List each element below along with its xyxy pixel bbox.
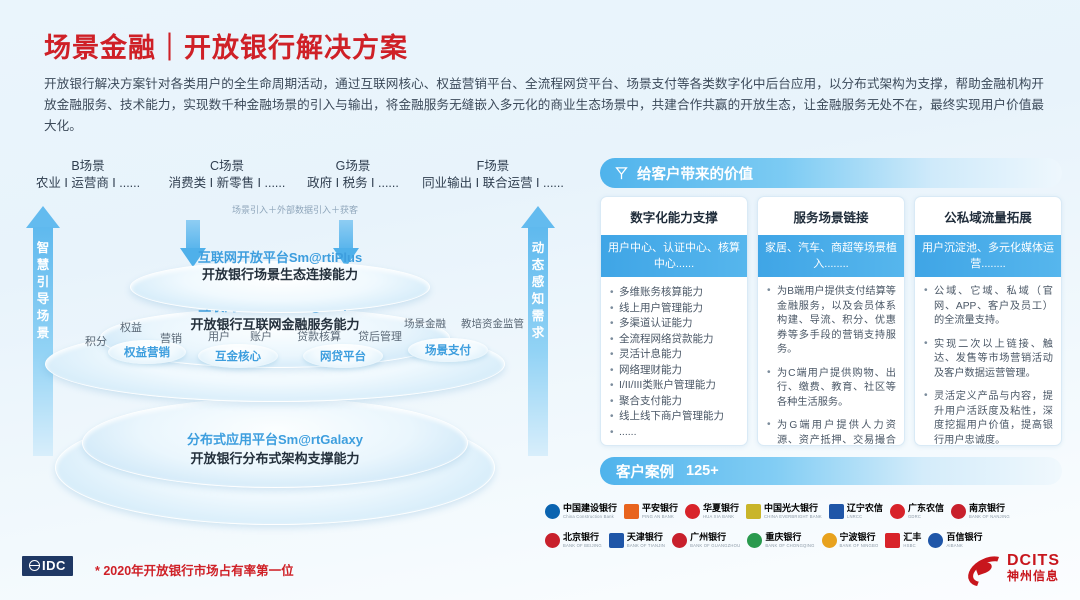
- bank-mark-icon: [822, 533, 837, 548]
- page-title: 场景金融｜开放银行解决方案: [44, 26, 408, 65]
- logo-en-name: CHINA EVERBRIGHT BANK: [764, 515, 822, 519]
- client-logo: 中国光大银行CHINA EVERBRIGHT BANK: [746, 504, 822, 519]
- list-item: 全流程网络贷款能力: [610, 332, 739, 348]
- dcits-swirl-icon: [967, 554, 1001, 580]
- bank-mark-icon: [609, 533, 624, 548]
- logo-en-name: PING AN BANK: [642, 515, 678, 519]
- arrow-shaft: [339, 220, 353, 250]
- card-item-list: 公域、它域、私域（官网、APP、客户及员工）的全流量支持。 实现二次以上链接、触…: [924, 285, 1053, 446]
- logo-cn-name: 宁波银行: [840, 533, 879, 542]
- value-panel-header: 给客户带来的价值: [600, 158, 1062, 188]
- flow-note: 场景引入＋外部数据引入＋获客: [165, 203, 425, 216]
- client-logo: 华夏银行HUA XIA BANK: [685, 504, 739, 519]
- right-demand-arrow: 动态感知需求: [521, 206, 555, 456]
- scene-column-g: G场景 政府 I 税务 I ......: [288, 158, 418, 192]
- scene-column-f: F场景 同业输出 I 联合运营 I ......: [408, 158, 578, 192]
- scene-detail: 政府 I 税务 I ......: [288, 174, 418, 192]
- idc-logo: IDC: [22, 556, 73, 576]
- logo-cn-name: 中国建设银行: [563, 504, 617, 513]
- layer-capability: 开放银行互联网金融服务能力: [45, 316, 505, 334]
- logo-cn-name: 平安银行: [642, 504, 678, 513]
- card-subtitle: 用户沉淀池、多元化媒体运营........: [915, 235, 1061, 277]
- client-logo: 广东农信GDRC: [890, 504, 944, 519]
- client-logo: 重庆银行BANK OF CHONGQING: [747, 533, 814, 548]
- globe-icon: [29, 560, 40, 571]
- module-pill-internet-core[interactable]: 互金核心: [198, 344, 278, 368]
- logo-row-1: 中国建设银行China Construction Bank 平安银行PING A…: [545, 497, 1065, 526]
- client-logo: 百信银行AIBANK: [928, 533, 982, 548]
- logo-cn-name: 中国光大银行: [764, 504, 822, 513]
- scene-label: G场景: [288, 158, 418, 174]
- list-item: 为G端用户提供人力资源、资产抵押、交易撮合等政务税务基础服务。: [767, 419, 896, 446]
- bank-mark-icon: [746, 504, 761, 519]
- value-cards: 数字化能力支撑 用户中心、认证中心、核算中心...... 多维账务核算能力 线上…: [600, 196, 1062, 446]
- client-logo: 北京银行BANK OF BEIJING: [545, 533, 602, 548]
- logo-en-name: BANK OF GUANGZHOU: [690, 544, 740, 548]
- logo-cn-name: 南京银行: [969, 504, 1010, 513]
- value-card-traffic-expansion[interactable]: 公私域流量拓展 用户沉淀池、多元化媒体运营........ 公域、它域、私域（官…: [914, 196, 1062, 446]
- client-logo: 广州银行BANK OF GUANGZHOU: [672, 533, 740, 548]
- brand-en-name: DCITS: [1007, 552, 1060, 570]
- case-panel-header: 客户案例 125+: [600, 457, 1062, 485]
- client-logo: 天津银行BANK OF TIANJIN: [609, 533, 665, 548]
- logo-cn-name: 华夏银行: [703, 504, 739, 513]
- bank-mark-icon: [829, 504, 844, 519]
- logo-cn-name: 广州银行: [690, 533, 740, 542]
- client-logo: 平安银行PING AN BANK: [624, 504, 678, 519]
- list-item: I/II/III类账户管理能力: [610, 378, 739, 394]
- list-item: 为B端用户提供支付结算等金融服务，以及会员体系构建、导流、积分、优惠券等多手段的…: [767, 285, 896, 358]
- list-item: 多维账务核算能力: [610, 285, 739, 301]
- card-title: 服务场景链接: [758, 197, 904, 235]
- logo-cn-name: 汇丰: [903, 533, 921, 542]
- client-logo-grid: 中国建设银行China Construction Bank 平安银行PING A…: [545, 497, 1065, 555]
- logo-en-name: AIBANK: [946, 544, 982, 548]
- module-pill-scene-payment[interactable]: 场景支付: [408, 338, 488, 362]
- card-body: 多维账务核算能力 线上用户管理能力 多渠道认证能力 全流程网络贷款能力 灵活计息…: [601, 277, 747, 446]
- case-panel-title: 客户案例: [616, 461, 674, 482]
- layer-capability: 开放银行分布式架构支撑能力: [55, 450, 495, 468]
- feature-word-points: 积分: [85, 333, 107, 349]
- client-logo: 汇丰HSBC: [885, 533, 921, 548]
- list-item: 多渠道认证能力: [610, 316, 739, 332]
- list-item: ......: [610, 425, 739, 441]
- bank-mark-icon: [545, 504, 560, 519]
- scene-detail: 同业输出 I 联合运营 I ......: [408, 174, 578, 192]
- layer-product-name: 互联网开放平台Sm@rtiPlus: [130, 249, 430, 266]
- logo-cn-name: 重庆银行: [765, 533, 814, 542]
- card-title: 公私域流量拓展: [915, 197, 1061, 235]
- module-label: 网贷平台: [320, 348, 366, 364]
- list-item: 线上用户管理能力: [610, 301, 739, 317]
- bank-mark-icon: [685, 504, 700, 519]
- idc-footnote: * 2020年开放银行市场占有率第一位: [95, 560, 294, 579]
- card-title: 数字化能力支撑: [601, 197, 747, 235]
- scene-detail: 消费类 I 新零售 I ......: [152, 174, 302, 192]
- logo-en-name: China Construction Bank: [563, 515, 617, 519]
- dcits-brand-logo: DCITS 神州信息: [967, 552, 1060, 583]
- logo-en-name: BANK OF CHONGQING: [765, 544, 814, 548]
- value-card-service-scene-link[interactable]: 服务场景链接 家居、汽车、商超等场景植入........ 为B端用户提供支付结算…: [757, 196, 905, 446]
- list-item: 线上线下商户管理能力: [610, 409, 739, 425]
- case-count-badge: 125+: [686, 463, 719, 479]
- module-label: 权益营销: [124, 344, 170, 360]
- intro-paragraph: 开放银行解决方案针对各类用户的全生命周期活动，通过互联网核心、权益营销平台、全流…: [44, 74, 1044, 137]
- logo-cn-name: 辽宁农信: [847, 504, 883, 513]
- logo-en-name: HUA XIA BANK: [703, 515, 739, 519]
- bank-mark-icon: [885, 533, 900, 548]
- layer-product-name: 分布式应用平台Sm@rtGalaxy: [55, 431, 495, 448]
- scene-label: F场景: [408, 158, 578, 174]
- logo-en-name: BANK OF NANJING: [969, 515, 1010, 519]
- logo-cn-name: 天津银行: [627, 533, 665, 542]
- scene-label: C场景: [152, 158, 302, 174]
- card-subtitle: 家居、汽车、商超等场景植入........: [758, 235, 904, 277]
- list-item: 聚合支付能力: [610, 394, 739, 410]
- right-arrow-label: 动态感知需求: [529, 240, 547, 342]
- bank-mark-icon: [951, 504, 966, 519]
- card-subtitle: 用户中心、认证中心、核算中心......: [601, 235, 747, 277]
- list-item: 实现二次以上链接、触达、发售等市场营销活动及客户数据运营管理。: [924, 338, 1053, 382]
- idc-label: IDC: [42, 558, 66, 573]
- client-logo: 南京银行BANK OF NANJING: [951, 504, 1010, 519]
- layer-capability: 开放银行场景生态连接能力: [130, 266, 430, 284]
- bank-mark-icon: [928, 533, 943, 548]
- logo-en-name: BANK OF TIANJIN: [627, 544, 665, 548]
- scene-detail: 农业 I 运营商 I ......: [18, 174, 158, 192]
- scene-column-b: B场景 农业 I 运营商 I ......: [18, 158, 158, 192]
- logo-cn-name: 北京银行: [563, 533, 602, 542]
- bank-mark-icon: [890, 504, 905, 519]
- bank-mark-icon: [624, 504, 639, 519]
- list-item: 灵活计息能力: [610, 347, 739, 363]
- list-item: 为C端用户提供购物、出行、缴费、教育、社区等各种生活服务。: [767, 367, 896, 411]
- card-body: 为B端用户提供支付结算等金融服务，以及会员体系构建、导流、积分、优惠券等多手段的…: [758, 277, 904, 446]
- card-item-list: 多维账务核算能力 线上用户管理能力 多渠道认证能力 全流程网络贷款能力 灵活计息…: [610, 285, 739, 440]
- module-label: 场景支付: [425, 342, 471, 358]
- card-item-list: 为B端用户提供支付结算等金融服务，以及会员体系构建、导流、积分、优惠券等多手段的…: [767, 285, 896, 446]
- bank-mark-icon: [747, 533, 762, 548]
- module-label: 互金核心: [215, 348, 261, 364]
- logo-en-name: HSBC: [903, 544, 921, 548]
- list-item: 公域、它域、私域（官网、APP、客户及员工）的全流量支持。: [924, 285, 1053, 329]
- arrow-shaft: [186, 220, 200, 250]
- brand-cn-name: 神州信息: [1007, 570, 1060, 583]
- client-logo: 中国建设银行China Construction Bank: [545, 504, 617, 519]
- bank-mark-icon: [545, 533, 560, 548]
- diamond-badge-icon: [613, 165, 630, 182]
- scene-label: B场景: [18, 158, 158, 174]
- architecture-diagram: B场景 农业 I 运营商 I ...... C场景 消费类 I 新零售 I ..…: [0, 148, 585, 548]
- list-item: 网络理财能力: [610, 363, 739, 379]
- logo-en-name: BANK OF BEIJING: [563, 544, 602, 548]
- value-panel-title: 给客户带来的价值: [637, 163, 753, 184]
- logo-en-name: BANK OF NINGBO: [840, 544, 879, 548]
- scene-column-c: C场景 消费类 I 新零售 I ......: [152, 158, 302, 192]
- logo-cn-name: 百信银行: [946, 533, 982, 542]
- arrow-head: [521, 206, 555, 228]
- logo-en-name: LNRCC: [847, 515, 883, 519]
- bank-mark-icon: [672, 533, 687, 548]
- value-card-digital-capability[interactable]: 数字化能力支撑 用户中心、认证中心、核算中心...... 多维账务核算能力 线上…: [600, 196, 748, 446]
- logo-en-name: GDRC: [908, 515, 944, 519]
- card-body: 公域、它域、私域（官网、APP、客户及员工）的全流量支持。 实现二次以上链接、触…: [915, 277, 1061, 446]
- module-pill-online-lending[interactable]: 网贷平台: [303, 344, 383, 368]
- logo-cn-name: 广东农信: [908, 504, 944, 513]
- arrow-head: [26, 206, 60, 228]
- logo-row-2: 北京银行BANK OF BEIJING 天津银行BANK OF TIANJIN …: [545, 526, 1065, 555]
- list-item: 灵活定义产品与内容，提升用户活跃度及粘性，深度挖掘用户价值，提高银行用户忠诚度。: [924, 390, 1053, 446]
- client-logo: 辽宁农信LNRCC: [829, 504, 883, 519]
- client-logo: 宁波银行BANK OF NINGBO: [822, 533, 879, 548]
